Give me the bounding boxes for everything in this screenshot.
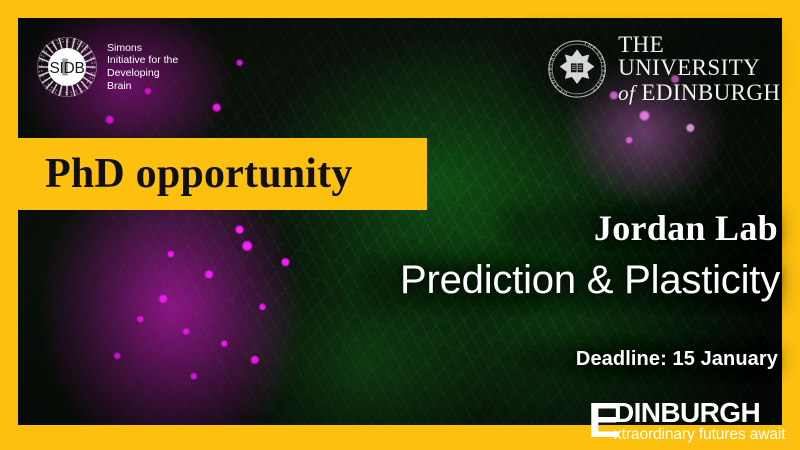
university-wordmark: THE UNIVERSITY of EDINBURGH	[618, 33, 800, 104]
university-wordmark-edinburgh: EDINBURGH	[641, 80, 780, 105]
sidb-logo: SIDB Simons Initiative for the Developin…	[36, 36, 178, 98]
edinburgh-city-logo: E DINBURGH xtraordinary futures await	[588, 398, 788, 444]
university-wordmark-line-1: THE UNIVERSITY	[618, 33, 800, 79]
phd-opportunity-label: PhD opportunity	[45, 150, 353, 198]
lab-tagline: Prediction & Plasticity	[400, 258, 780, 303]
edinburgh-crest-icon: THE UNIVERSITY OF EDINBURGH	[548, 38, 606, 100]
phd-opportunity-banner: PhD opportunity	[0, 138, 427, 210]
brain-circle-icon: SIDB	[36, 36, 98, 98]
sidb-name-line-3: Developing	[107, 67, 178, 80]
application-deadline: Deadline: 15 January	[576, 348, 778, 371]
phd-opportunity-poster: SIDB Simons Initiative for the Developin…	[0, 0, 800, 450]
lab-name: Jordan Lab	[594, 207, 778, 249]
svg-text:SIDB: SIDB	[50, 60, 85, 77]
university-of-edinburgh-logo: THE UNIVERSITY OF EDINBURGH THE UNIVERSI…	[548, 33, 800, 104]
university-wordmark-line-2: of EDINBURGH	[618, 81, 800, 104]
sidb-name-line-4: Brain	[107, 80, 178, 93]
sidb-name-line-1: Simons	[107, 42, 178, 55]
university-wordmark-of: of	[618, 81, 635, 105]
sidb-name-line-2: Initiative for the	[107, 54, 178, 67]
sidb-logo-text: Simons Initiative for the Developing Bra…	[107, 42, 178, 92]
edinburgh-logo-strapline: xtraordinary futures await	[614, 426, 785, 443]
edinburgh-logo-word: DINBURGH	[614, 399, 760, 427]
